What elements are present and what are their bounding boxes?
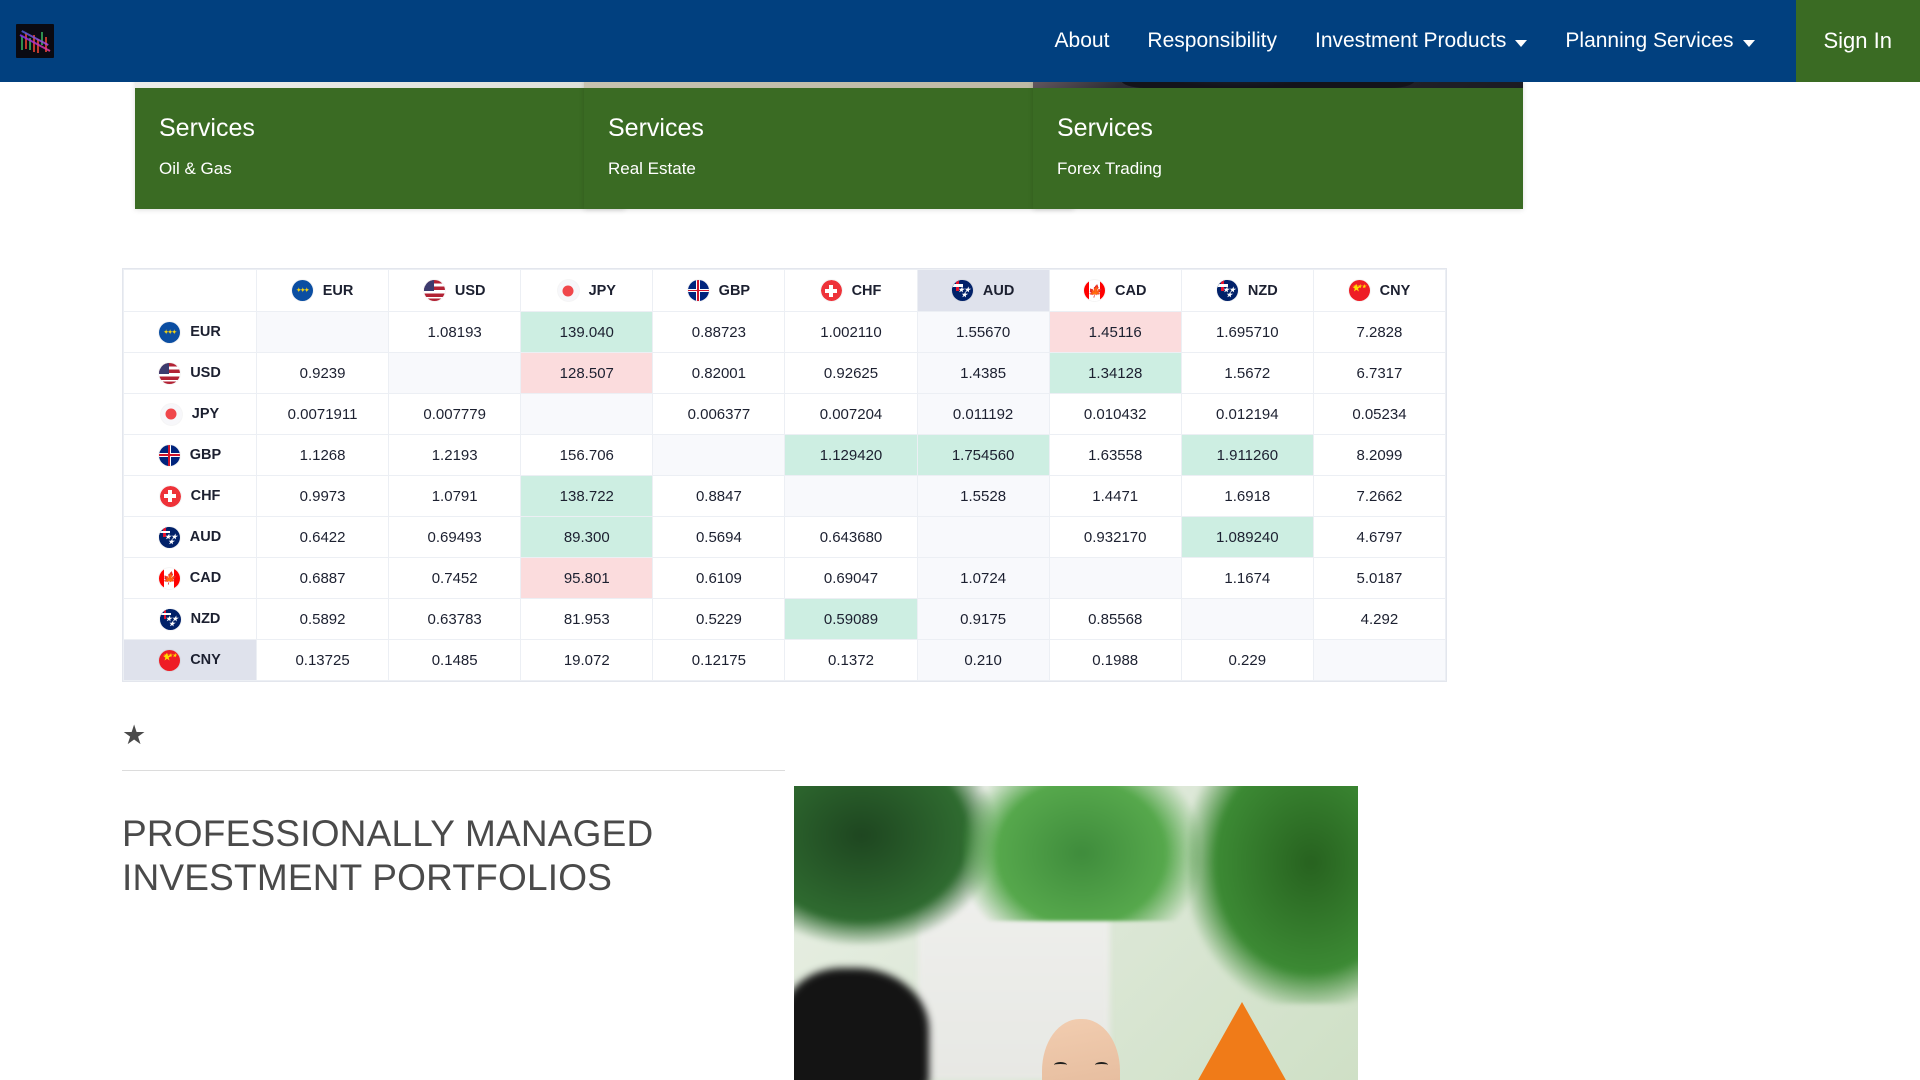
- rate-cell[interactable]: 0.6887: [257, 558, 389, 599]
- row-header-label: CHF: [191, 488, 221, 504]
- row-header-label: EUR: [190, 324, 221, 340]
- flag-eur-icon: [159, 322, 180, 343]
- table-row[interactable]: ★★★CNY0.137250.148519.0720.121750.13720.…: [124, 640, 1446, 681]
- rate-cell[interactable]: 0.229: [1181, 640, 1313, 681]
- rate-cell[interactable]: 1.08193: [389, 312, 521, 353]
- rate-cell[interactable]: 1.6918: [1181, 476, 1313, 517]
- rate-cell[interactable]: 1.4471: [1049, 476, 1181, 517]
- flag-cny-icon: ★★★: [1349, 280, 1370, 301]
- row-header-cny[interactable]: ★★★CNY: [124, 640, 257, 681]
- table-row[interactable]: USD0.9239128.5070.820010.926251.43851.34…: [124, 353, 1446, 394]
- brand-logo-icon[interactable]: [16, 24, 54, 58]
- column-header-usd[interactable]: USD: [389, 270, 521, 312]
- rate-cell[interactable]: 1.5528: [917, 476, 1049, 517]
- rate-cell[interactable]: 0.932170: [1049, 517, 1181, 558]
- flag-gbp-icon: [159, 445, 180, 466]
- flag-gbp-icon: [688, 280, 709, 301]
- rate-cell[interactable]: [1181, 599, 1313, 640]
- rate-cell[interactable]: 0.59089: [785, 599, 917, 640]
- row-header-gbp[interactable]: GBP: [124, 435, 257, 476]
- rate-cell[interactable]: [389, 353, 521, 394]
- service-card-title: Services: [608, 114, 1050, 143]
- table-row[interactable]: ★★★AUD0.64220.6949389.3000.56940.6436800…: [124, 517, 1446, 558]
- flag-jpy-icon: [558, 280, 579, 301]
- rate-cell[interactable]: 1.0724: [917, 558, 1049, 599]
- flag-jpy-icon: [161, 404, 182, 425]
- rate-cell[interactable]: 0.63783: [389, 599, 521, 640]
- rate-cell[interactable]: 0.88723: [653, 312, 785, 353]
- section-divider: [122, 770, 785, 771]
- column-header-jpy[interactable]: JPY: [521, 270, 653, 312]
- sign-in-label: Sign In: [1824, 28, 1893, 54]
- column-header-label: CNY: [1380, 283, 1411, 299]
- row-header-usd[interactable]: USD: [124, 353, 257, 394]
- rate-cell[interactable]: 95.801: [521, 558, 653, 599]
- star-rating-row: ★: [122, 722, 146, 749]
- orange-cone-shape: [1188, 1002, 1296, 1080]
- rate-cell[interactable]: 0.1988: [1049, 640, 1181, 681]
- rate-cell[interactable]: 1.754560: [917, 435, 1049, 476]
- flag-aud-icon: ★★★: [952, 280, 973, 301]
- rate-cell[interactable]: 0.05234: [1313, 394, 1445, 435]
- sign-in-button[interactable]: Sign In: [1796, 0, 1920, 82]
- column-header-cny[interactable]: ★★★ CNY: [1313, 270, 1445, 312]
- rate-cell[interactable]: 5.0187: [1313, 558, 1445, 599]
- column-header-label: CAD: [1115, 283, 1146, 299]
- service-card-body: Services Forex Trading: [1033, 88, 1523, 209]
- page-title: PROFESSIONALLY MANAGED INVESTMENT PORTFO…: [122, 812, 782, 899]
- rate-cell[interactable]: 0.9973: [257, 476, 389, 517]
- flag-cad-icon: 🍁: [1084, 280, 1105, 301]
- rate-cell[interactable]: 0.007204: [785, 394, 917, 435]
- column-header-label: EUR: [323, 283, 354, 299]
- rate-cell[interactable]: 0.69047: [785, 558, 917, 599]
- column-header-eur[interactable]: EUR: [257, 270, 389, 312]
- rate-cell[interactable]: 0.5892: [257, 599, 389, 640]
- rate-cell[interactable]: [257, 312, 389, 353]
- flag-cny-icon: ★★★: [159, 650, 180, 671]
- rate-cell[interactable]: 0.011192: [917, 394, 1049, 435]
- rate-cell[interactable]: 0.8847: [653, 476, 785, 517]
- table-corner-cell: [124, 270, 257, 312]
- rate-cell[interactable]: 0.9239: [257, 353, 389, 394]
- nav-item-label: About: [1055, 29, 1110, 53]
- table-row[interactable]: EUR1.08193139.0400.887231.0021101.556701…: [124, 312, 1446, 353]
- table-row[interactable]: GBP1.12681.2193156.7061.1294201.7545601.…: [124, 435, 1446, 476]
- flag-usd-icon: [159, 363, 180, 384]
- rate-cell[interactable]: 19.072: [521, 640, 653, 681]
- rate-cell[interactable]: 0.82001: [653, 353, 785, 394]
- flag-usd-icon: [424, 280, 445, 301]
- rate-cell[interactable]: 1.695710: [1181, 312, 1313, 353]
- table-row[interactable]: ★★★NZD0.58920.6378381.9530.52290.590890.…: [124, 599, 1446, 640]
- column-header-label: AUD: [983, 283, 1014, 299]
- rate-cell[interactable]: 0.010432: [1049, 394, 1181, 435]
- rate-cell[interactable]: 0.9175: [917, 599, 1049, 640]
- rate-cell[interactable]: 1.0791: [389, 476, 521, 517]
- row-header-label: CNY: [190, 652, 221, 668]
- rate-cell[interactable]: 1.45116: [1049, 312, 1181, 353]
- service-card-title: Services: [1057, 114, 1499, 143]
- rate-cell[interactable]: 0.643680: [785, 517, 917, 558]
- rate-cell[interactable]: [521, 394, 653, 435]
- rate-cell[interactable]: 81.953: [521, 599, 653, 640]
- rate-cell[interactable]: 1.5672: [1181, 353, 1313, 394]
- rate-cell[interactable]: 0.006377: [653, 394, 785, 435]
- nav-item-responsibility[interactable]: Responsibility: [1128, 0, 1296, 82]
- rate-cell[interactable]: 7.2662: [1313, 476, 1445, 517]
- rate-cell[interactable]: 4.292: [1313, 599, 1445, 640]
- rate-cell[interactable]: 8.2099: [1313, 435, 1445, 476]
- chevron-down-icon: [1743, 40, 1755, 47]
- nav-item-label: Planning Services: [1565, 29, 1733, 53]
- rate-cell[interactable]: 0.012194: [1181, 394, 1313, 435]
- table-header-row: EUR USD JPY: [124, 270, 1446, 312]
- column-header-label: NZD: [1248, 283, 1278, 299]
- rate-cell[interactable]: 1.129420: [785, 435, 917, 476]
- flag-eur-icon: [292, 280, 313, 301]
- nav-item-label: Investment Products: [1315, 29, 1506, 53]
- table-row[interactable]: JPY0.00719110.0077790.0063770.0072040.01…: [124, 394, 1446, 435]
- flag-chf-icon: [821, 280, 842, 301]
- rate-cell[interactable]: [653, 435, 785, 476]
- column-header-chf[interactable]: CHF: [785, 270, 917, 312]
- nav-item-planning-services[interactable]: Planning Services: [1546, 0, 1773, 82]
- row-header-eur[interactable]: EUR: [124, 312, 257, 353]
- row-header-jpy[interactable]: JPY: [124, 394, 257, 435]
- service-card-body: Services Oil & Gas: [135, 88, 625, 209]
- column-header-label: USD: [455, 283, 486, 299]
- rate-cell[interactable]: 6.7317: [1313, 353, 1445, 394]
- nav-item-about[interactable]: About: [1036, 0, 1129, 82]
- rate-cell[interactable]: 0.007779: [389, 394, 521, 435]
- service-card-title: Services: [159, 114, 601, 143]
- rate-cell[interactable]: 1.2193: [389, 435, 521, 476]
- rate-cell[interactable]: 1.34128: [1049, 353, 1181, 394]
- nav-item-label: Responsibility: [1147, 29, 1277, 53]
- column-header-cad[interactable]: 🍁 CAD: [1049, 270, 1181, 312]
- rate-cell[interactable]: 1.1674: [1181, 558, 1313, 599]
- rate-cell[interactable]: 0.1485: [389, 640, 521, 681]
- service-card-subtitle: Real Estate: [608, 159, 1050, 179]
- column-header-label: CHF: [852, 283, 882, 299]
- rate-cell[interactable]: 0.12175: [653, 640, 785, 681]
- rate-cell[interactable]: [1049, 558, 1181, 599]
- column-header-label: GBP: [719, 283, 750, 299]
- row-header-label: NZD: [191, 611, 221, 627]
- star-icon: ★: [122, 720, 146, 750]
- row-header-label: JPY: [192, 406, 219, 422]
- table-row[interactable]: 🍁CAD0.68870.745295.8010.61090.690471.072…: [124, 558, 1446, 599]
- rate-cell[interactable]: 0.5694: [653, 517, 785, 558]
- rate-cell[interactable]: [1313, 640, 1445, 681]
- rate-cell[interactable]: 89.300: [521, 517, 653, 558]
- flag-nzd-icon: ★★★: [1217, 280, 1238, 301]
- row-header-label: AUD: [190, 529, 221, 545]
- rate-cell[interactable]: 0.7452: [389, 558, 521, 599]
- flag-nzd-icon: ★★★: [160, 609, 181, 630]
- rate-cell[interactable]: 1.089240: [1181, 517, 1313, 558]
- service-card-subtitle: Oil & Gas: [159, 159, 601, 179]
- rate-cell[interactable]: [917, 517, 1049, 558]
- row-header-label: USD: [190, 365, 221, 381]
- rate-cell[interactable]: 1.1268: [257, 435, 389, 476]
- portfolio-photo: [794, 786, 1358, 1080]
- rate-cell[interactable]: 1.911260: [1181, 435, 1313, 476]
- rate-cell[interactable]: 0.13725: [257, 640, 389, 681]
- rate-cell[interactable]: 1.55670: [917, 312, 1049, 353]
- rate-cell[interactable]: 1.63558: [1049, 435, 1181, 476]
- rate-cell[interactable]: 0.6422: [257, 517, 389, 558]
- rate-cell[interactable]: 1.002110: [785, 312, 917, 353]
- service-card-body: Services Real Estate: [584, 88, 1074, 209]
- rate-cell[interactable]: 7.2828: [1313, 312, 1445, 353]
- table-row[interactable]: CHF0.99731.0791138.7220.88471.55281.4471…: [124, 476, 1446, 517]
- column-header-nzd[interactable]: ★★★ NZD: [1181, 270, 1313, 312]
- chevron-down-icon: [1515, 40, 1527, 47]
- nav-item-investment-products[interactable]: Investment Products: [1296, 0, 1546, 82]
- forex-table-body: EUR1.08193139.0400.887231.0021101.556701…: [124, 312, 1446, 681]
- row-header-cad[interactable]: 🍁CAD: [124, 558, 257, 599]
- flag-aud-icon: ★★★: [159, 527, 180, 548]
- rate-cell[interactable]: 128.507: [521, 353, 653, 394]
- flag-chf-icon: [160, 486, 181, 507]
- rate-cell[interactable]: 1.4385: [917, 353, 1049, 394]
- column-header-gbp[interactable]: GBP: [653, 270, 785, 312]
- rate-cell[interactable]: 156.706: [521, 435, 653, 476]
- row-header-label: GBP: [190, 447, 221, 463]
- column-header-aud[interactable]: ★★★ AUD: [917, 270, 1049, 312]
- main-navigation: About Responsibility Investment Products…: [1036, 0, 1920, 82]
- service-card-subtitle: Forex Trading: [1057, 159, 1499, 179]
- row-header-aud[interactable]: ★★★AUD: [124, 517, 257, 558]
- row-header-nzd[interactable]: ★★★NZD: [124, 599, 257, 640]
- rate-cell[interactable]: 0.0071911: [257, 394, 389, 435]
- rate-cell[interactable]: 0.69493: [389, 517, 521, 558]
- rate-cell[interactable]: 4.6797: [1313, 517, 1445, 558]
- rate-cell[interactable]: 139.040: [521, 312, 653, 353]
- flag-cad-icon: 🍁: [159, 568, 180, 589]
- rate-cell[interactable]: 0.6109: [653, 558, 785, 599]
- rate-cell[interactable]: 138.722: [521, 476, 653, 517]
- column-header-label: JPY: [589, 283, 616, 299]
- site-header: About Responsibility Investment Products…: [0, 0, 1920, 82]
- rate-cell[interactable]: 0.85568: [1049, 599, 1181, 640]
- rate-cell[interactable]: 0.5229: [653, 599, 785, 640]
- forex-cross-rates-table[interactable]: EUR USD JPY: [122, 268, 1447, 682]
- row-header-label: CAD: [190, 570, 221, 586]
- rate-cell[interactable]: 0.92625: [785, 353, 917, 394]
- rate-cell[interactable]: 0.210: [917, 640, 1049, 681]
- row-header-chf[interactable]: CHF: [124, 476, 257, 517]
- rate-cell[interactable]: 0.1372: [785, 640, 917, 681]
- rate-cell[interactable]: [785, 476, 917, 517]
